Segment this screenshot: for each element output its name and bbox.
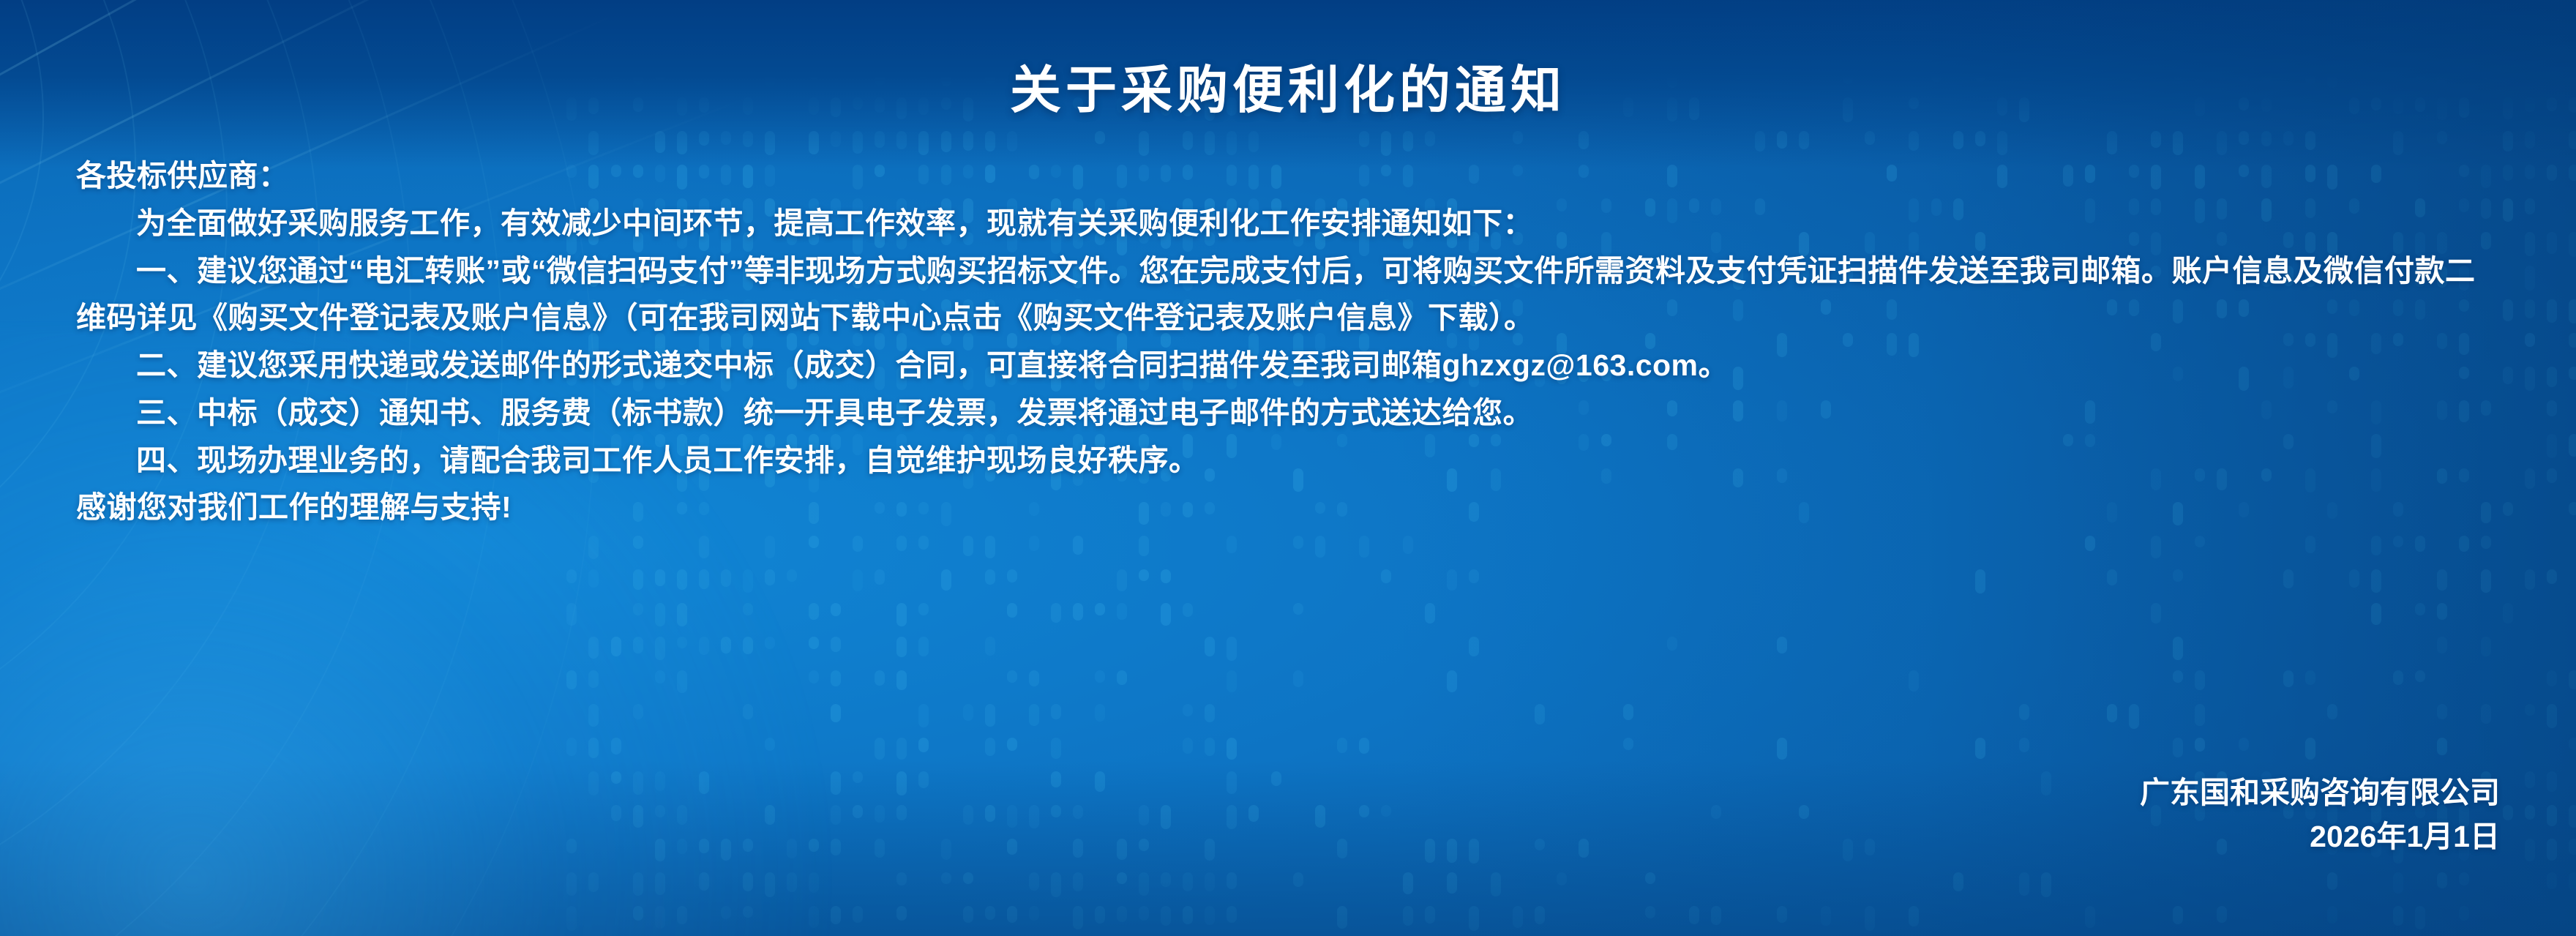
paragraph-intro: 为全面做好采购服务工作，有效减少中间环节，提高工作效率，现就有关采购便利化工作安… — [76, 200, 2500, 247]
paragraph-item-3: 三、中标（成交）通知书、服务费（标书款）统一开具电子发票，发票将通过电子邮件的方… — [76, 389, 2500, 437]
page-title: 关于采购便利化的通知 — [76, 0, 2500, 116]
paragraph-item-1: 一、建议您通过“电汇转账”或“微信扫码支付”等非现场方式购买招标文件。您在完成支… — [76, 247, 2500, 342]
signature-block: 广东国和采购咨询有限公司 2026年1月1日 — [2140, 771, 2500, 858]
paragraph-item-2: 二、建议您采用快递或发送邮件的形式递交中标（成交）合同，可直接将合同扫描件发至我… — [76, 342, 2500, 389]
signature-company: 广东国和采购咨询有限公司 — [2140, 771, 2500, 815]
closing-thanks: 感谢您对我们工作的理解与支持! — [76, 484, 2500, 531]
signature-date: 2026年1月1日 — [2140, 815, 2500, 858]
notice-banner: 关于采购便利化的通知 各投标供应商： 为全面做好采购服务工作，有效减少中间环节，… — [0, 0, 2576, 936]
notice-content: 关于采购便利化的通知 各投标供应商： 为全面做好采购服务工作，有效减少中间环节，… — [0, 0, 2576, 936]
notice-body: 各投标供应商： 为全面做好采购服务工作，有效减少中间环节，提高工作效率，现就有关… — [76, 152, 2500, 531]
paragraph-item-4: 四、现场办理业务的，请配合我司工作人员工作安排，自觉维护现场良好秩序。 — [76, 437, 2500, 484]
salutation: 各投标供应商： — [76, 152, 2500, 200]
